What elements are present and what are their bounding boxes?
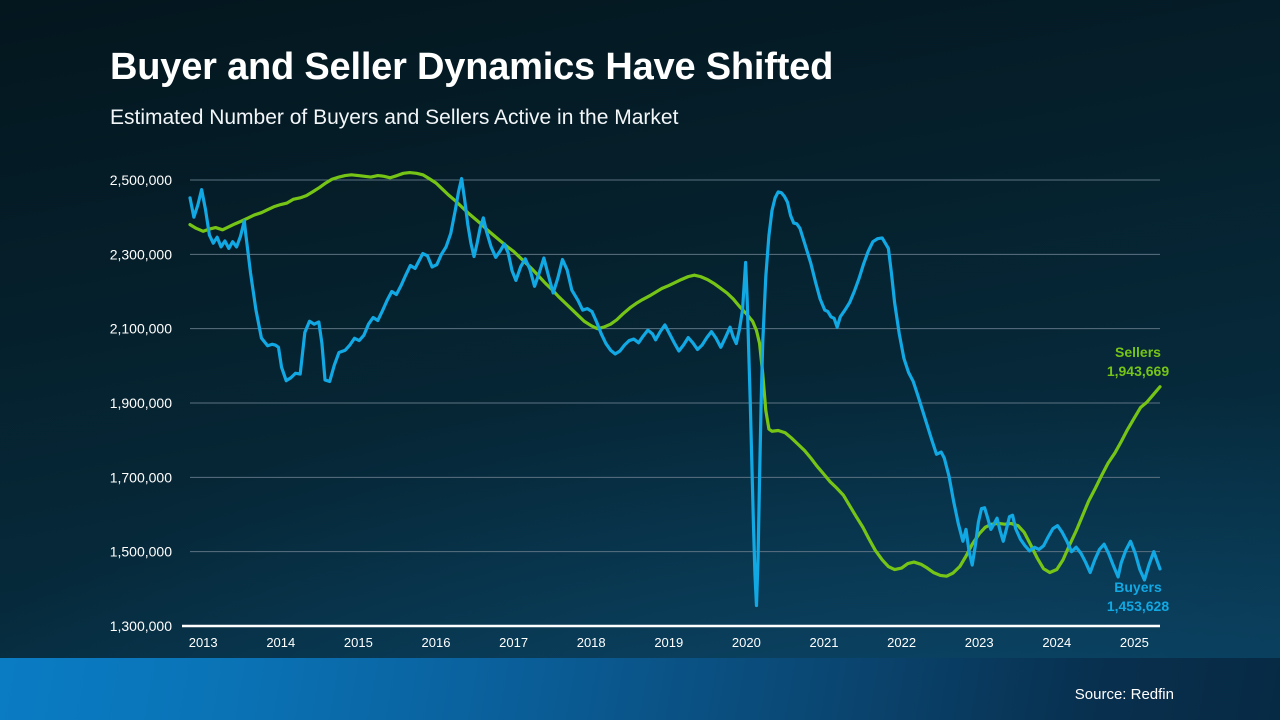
x-axis-tick-label: 2015 [344,635,373,650]
source-attribution: Source: Redfin [1075,686,1174,703]
y-axis-tick-labels: 1,300,0001,500,0001,700,0001,900,0002,10… [110,172,172,634]
series-line-sellers [190,173,1160,577]
y-axis-tick-label: 2,500,000 [110,172,172,188]
x-axis-tick-label: 2013 [189,635,218,650]
x-axis-tick-label: 2018 [577,635,606,650]
x-axis-tick-label: 2023 [965,635,994,650]
x-axis-tick-label: 2016 [422,635,451,650]
y-axis-tick-label: 1,500,000 [110,544,172,560]
chart-container: 1,300,0001,500,0001,700,0001,900,0002,10… [0,0,1280,720]
y-axis-tick-label: 2,100,000 [110,321,172,337]
x-axis-tick-label: 2021 [810,635,839,650]
line-chart: 1,300,0001,500,0001,700,0001,900,0002,10… [0,0,1280,720]
buyers-series-value: 1,453,628 [1107,598,1169,614]
footer-bar: Source: Redfin [0,658,1280,720]
x-axis-tick-label: 2017 [499,635,528,650]
y-axis-tick-label: 1,700,000 [110,469,172,485]
x-axis-tick-label: 2024 [1042,635,1071,650]
sellers-series-label: Sellers [1115,344,1161,360]
x-axis-tick-label: 2014 [266,635,295,650]
buyers-series-label: Buyers [1114,579,1162,595]
y-axis-tick-label: 2,300,000 [110,246,172,262]
series-line-buyers [190,179,1160,606]
sellers-series-value: 1,943,669 [1107,363,1169,379]
x-axis-tick-label: 2020 [732,635,761,650]
y-axis-tick-label: 1,900,000 [110,395,172,411]
x-axis-tick-labels: 2013201420152016201720182019202020212022… [189,635,1149,650]
slide-root: Buyer and Seller Dynamics Have Shifted E… [0,0,1280,720]
chart-series-lines [190,173,1160,606]
x-axis-tick-label: 2019 [654,635,683,650]
x-axis-tick-label: 2022 [887,635,916,650]
y-axis-tick-label: 1,300,000 [110,618,172,634]
x-axis-tick-label: 2025 [1120,635,1149,650]
